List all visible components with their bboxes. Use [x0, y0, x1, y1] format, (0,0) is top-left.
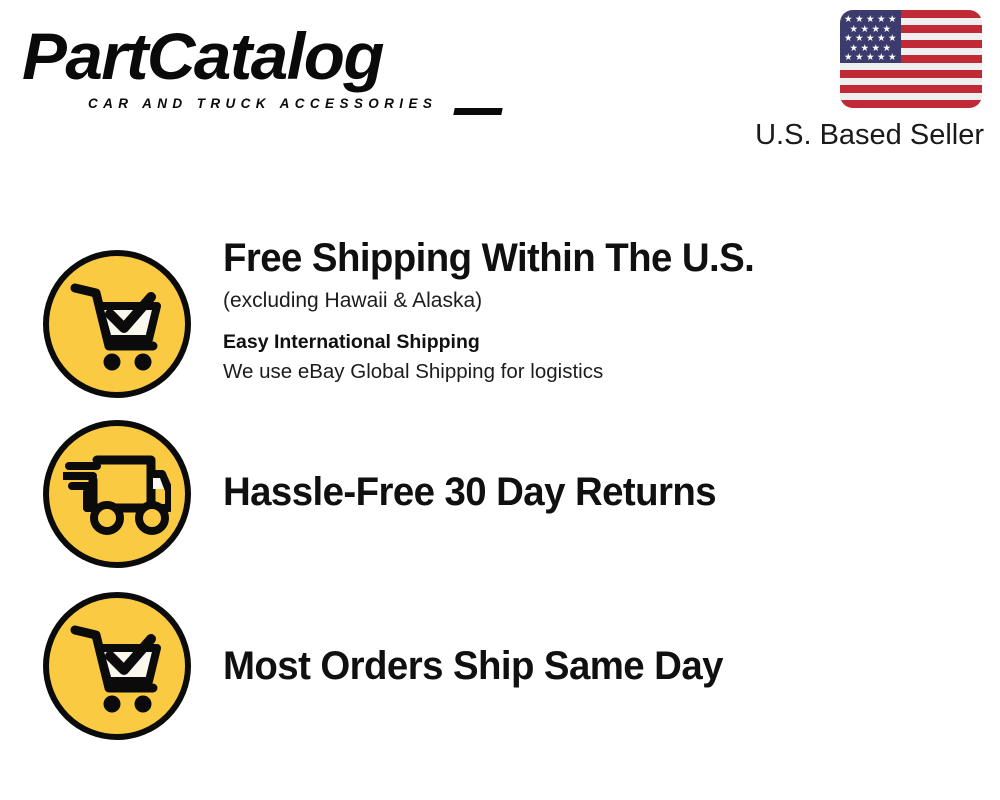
- flag-canton: ★ ★ ★ ★ ★ ★ ★ ★ ★ ★ ★ ★ ★ ★ ★ ★ ★ ★ ★ ★ …: [840, 10, 901, 63]
- brand-logo[interactable]: PartCatalog CAR AND TRUCK ACCESSORIES: [22, 22, 492, 120]
- feature-block: Hassle-Free 30 Day Returns: [223, 468, 963, 516]
- delivery-truck-icon: [43, 420, 191, 568]
- feature-title: Hassle-Free 30 Day Returns: [223, 468, 933, 516]
- feature-title: Most Orders Ship Same Day: [223, 642, 933, 690]
- brand-underline-accent: [453, 108, 502, 115]
- feature-block: Most Orders Ship Same Day: [223, 642, 963, 690]
- page-header: PartCatalog CAR AND TRUCK ACCESSORIES ★ …: [0, 0, 1000, 170]
- brand-tagline: CAR AND TRUCK ACCESSORIES: [88, 96, 437, 111]
- seller-badge-label: U.S. Based Seller: [726, 118, 984, 152]
- feature-note: (excluding Hawaii & Alaska): [223, 286, 963, 316]
- feature-subtitle: We use eBay Global Shipping for logistic…: [223, 357, 963, 386]
- us-flag-icon: ★ ★ ★ ★ ★ ★ ★ ★ ★ ★ ★ ★ ★ ★ ★ ★ ★ ★ ★ ★ …: [840, 10, 982, 108]
- shopping-cart-check-icon: [43, 250, 191, 398]
- feature-block: Free Shipping Within The U.S. (excluding…: [223, 234, 963, 386]
- feature-subtitle-strong: Easy International Shipping: [223, 328, 963, 356]
- shopping-cart-check-icon: [43, 592, 191, 740]
- feature-title: Free Shipping Within The U.S.: [223, 234, 933, 282]
- brand-wordmark: PartCatalog: [22, 22, 383, 90]
